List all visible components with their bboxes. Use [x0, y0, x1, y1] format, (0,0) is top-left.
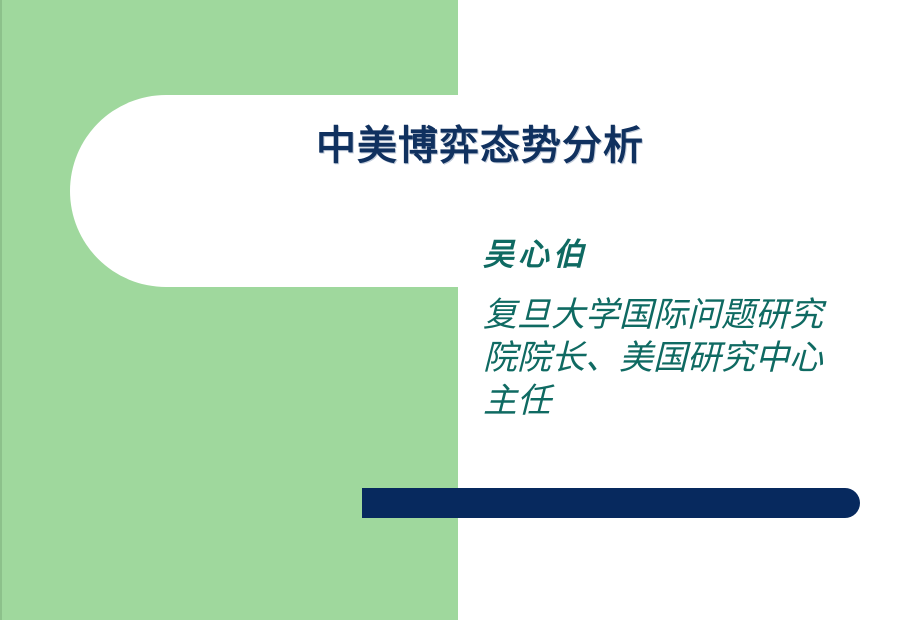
affiliation-line-1: 复旦大学国际问题研究	[483, 294, 883, 337]
presentation-slide: 中美博弈态势分析 吴心伯 复旦大学国际问题研究 院院长、美国研究中心 主任	[0, 0, 914, 620]
affiliation-line-3: 主任	[483, 380, 883, 423]
affiliation-line-2: 院院长、美国研究中心	[483, 337, 883, 380]
slide-title: 中美博弈态势分析	[316, 124, 876, 168]
author-name: 吴心伯	[483, 236, 883, 274]
green-side-panel	[2, 0, 458, 620]
author-affiliation-block: 吴心伯 复旦大学国际问题研究 院院长、美国研究中心 主任	[483, 236, 883, 423]
navy-accent-bar	[362, 488, 860, 518]
